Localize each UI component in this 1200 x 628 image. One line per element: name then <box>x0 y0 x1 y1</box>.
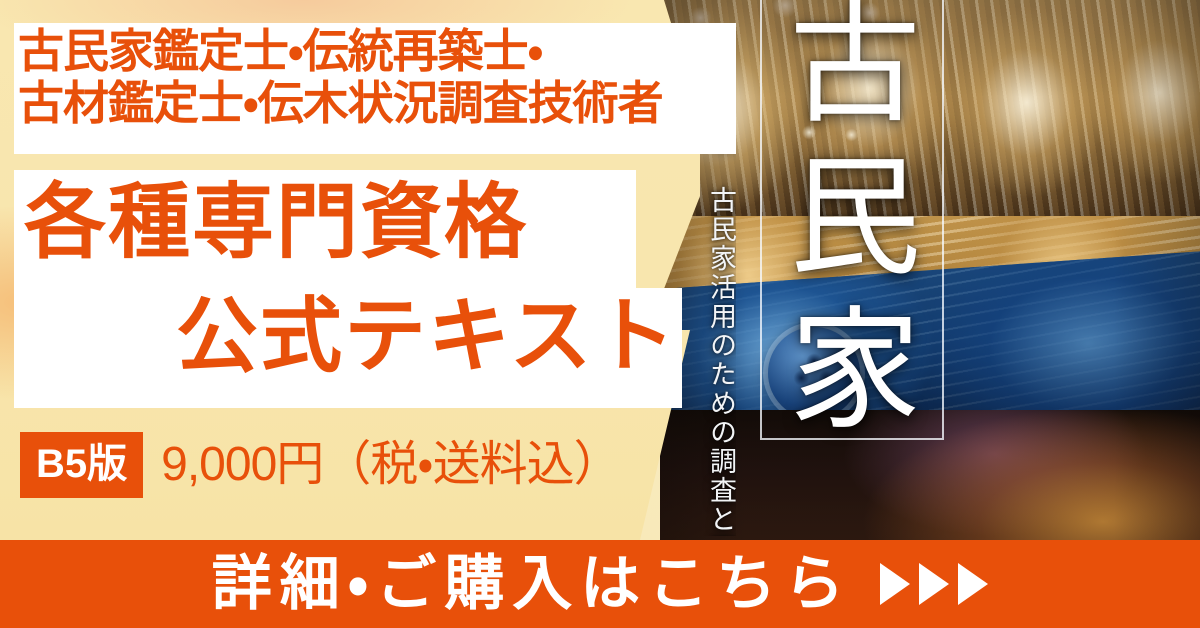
headline-line-1: 各種専門資格 <box>24 182 528 264</box>
cta-arrow-group[interactable] <box>880 563 988 605</box>
headline-line-2: 公式テキスト <box>176 296 678 378</box>
certifications-line-2: 古材鑑定士・伝木状況調査技術者 <box>18 78 724 130</box>
book-cover-title-char-3: 家 <box>789 310 921 434</box>
book-cover-title: 古 民 家 <box>770 4 940 434</box>
chevron-right-icon-1 <box>880 563 910 605</box>
chevron-right-icon-3 <box>958 563 988 605</box>
book-cover-subtitle-main: 古民家活用のための調査と再生の <box>706 186 736 536</box>
price-amount: 9,000円（税・送料込） <box>161 441 620 489</box>
certifications-text: 古民家鑑定士・伝統再築士・ 古材鑑定士・伝木状況調査技術者 <box>18 26 724 130</box>
book-cover-title-char-1: 古 <box>789 4 921 128</box>
price-row: B5版 9,000円（税・送料込） <box>20 433 621 497</box>
book-cover-title-char-2: 民 <box>789 157 921 281</box>
promotional-banner: 古 民 家 伝統構法 古民家活用のための調査と再生の 古民家鑑定士・伝統再築士・… <box>0 0 1200 628</box>
cta-bar[interactable]: 詳細・ご購入はこちら <box>0 540 1200 628</box>
certifications-line-1: 古民家鑑定士・伝統再築士・ <box>18 26 724 78</box>
format-badge: B5版 <box>20 432 143 498</box>
cta-label[interactable]: 詳細・ご購入はこちら <box>212 554 852 614</box>
chevron-right-icon-2 <box>919 563 949 605</box>
